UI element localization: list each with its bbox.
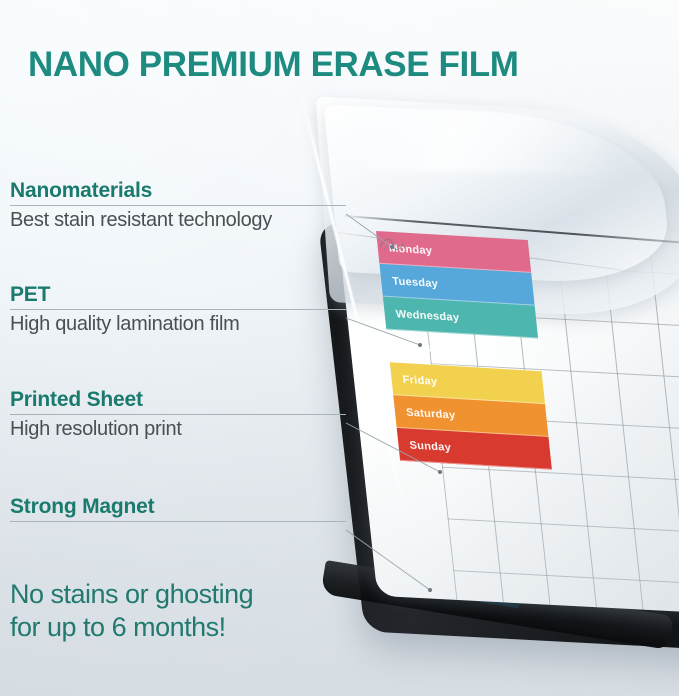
film-edge-line-secondary <box>325 230 623 270</box>
feature-divider <box>10 205 346 206</box>
magnet-front-edge <box>321 560 674 650</box>
weekday-tab-label: Tuesday <box>392 275 439 290</box>
tagline-line-2: for up to 6 months! <box>10 611 253 644</box>
page-title: NANO PREMIUM ERASE FILM <box>28 45 519 85</box>
weekday-tab-sunday: Sunday <box>397 428 552 470</box>
tagline-line-1: No stains or ghosting <box>10 578 253 611</box>
leader-dot-printed-sheet <box>438 470 442 474</box>
feature-description: High quality lamination film <box>10 313 346 336</box>
feature-description: High resolution print <box>10 418 346 441</box>
weekday-tab-label: Wednesday <box>395 308 460 324</box>
feature-heading: Strong Magnet <box>10 496 346 518</box>
tagline: No stains or ghosting for up to 6 months… <box>10 578 253 644</box>
leader-dot-strong-magnet <box>428 588 432 592</box>
weekday-tab-label: Sunday <box>409 439 452 453</box>
handwriting-scribble-icon <box>378 233 412 255</box>
weekday-tab-monday: Monday <box>376 231 531 273</box>
sheet-grid-lines <box>414 214 679 618</box>
sheet-shading <box>336 214 679 618</box>
weekday-tab-label: Thursday <box>399 341 452 356</box>
film-gloss-highlight <box>348 108 606 174</box>
weekday-tab-column: MondayTuesdayWednesdayThursdayFridaySatu… <box>376 231 554 471</box>
leader-strong-magnet <box>346 530 430 590</box>
feature-strong-magnet: Strong Magnet <box>10 496 346 522</box>
leader-nanomaterials <box>346 214 392 247</box>
weekday-tab-label: Friday <box>402 373 438 387</box>
leader-dot-pet <box>418 343 422 347</box>
feature-heading: Printed Sheet <box>10 389 346 411</box>
weekday-tab-label: Saturday <box>405 406 456 421</box>
pet-film-layer-back <box>316 97 679 322</box>
feature-printed-sheet: Printed Sheet High resolution print <box>10 389 346 441</box>
film-edge-line <box>340 215 679 243</box>
weekday-tab-tuesday: Tuesday <box>379 264 534 306</box>
pet-film-layer-front <box>324 105 673 286</box>
weekday-tab-friday: Friday <box>390 362 545 404</box>
feature-description: Best stain resistant technology <box>10 209 346 232</box>
feature-pet: PET High quality lamination film <box>10 284 346 336</box>
weekday-tab-wednesday: Wednesday <box>383 297 538 339</box>
printed-sheet <box>336 214 679 618</box>
feature-heading: Nanomaterials <box>10 180 346 202</box>
weekday-tab-label: Monday <box>388 242 433 257</box>
magnet-corner-chip <box>477 585 521 609</box>
feature-divider <box>10 521 346 522</box>
feature-divider <box>10 414 346 415</box>
leader-dot-nanomaterials <box>390 245 394 249</box>
product-infographic: MondayTuesdayWednesdayThursdayFridaySatu… <box>0 0 679 696</box>
feature-divider <box>10 309 346 310</box>
weekday-tab-thursday: Thursday <box>386 329 541 371</box>
feature-heading: PET <box>10 284 346 306</box>
weekday-tab-saturday: Saturday <box>393 395 548 437</box>
feature-nanomaterials: Nanomaterials Best stain resistant techn… <box>10 180 346 232</box>
strong-magnet-board <box>318 222 679 654</box>
